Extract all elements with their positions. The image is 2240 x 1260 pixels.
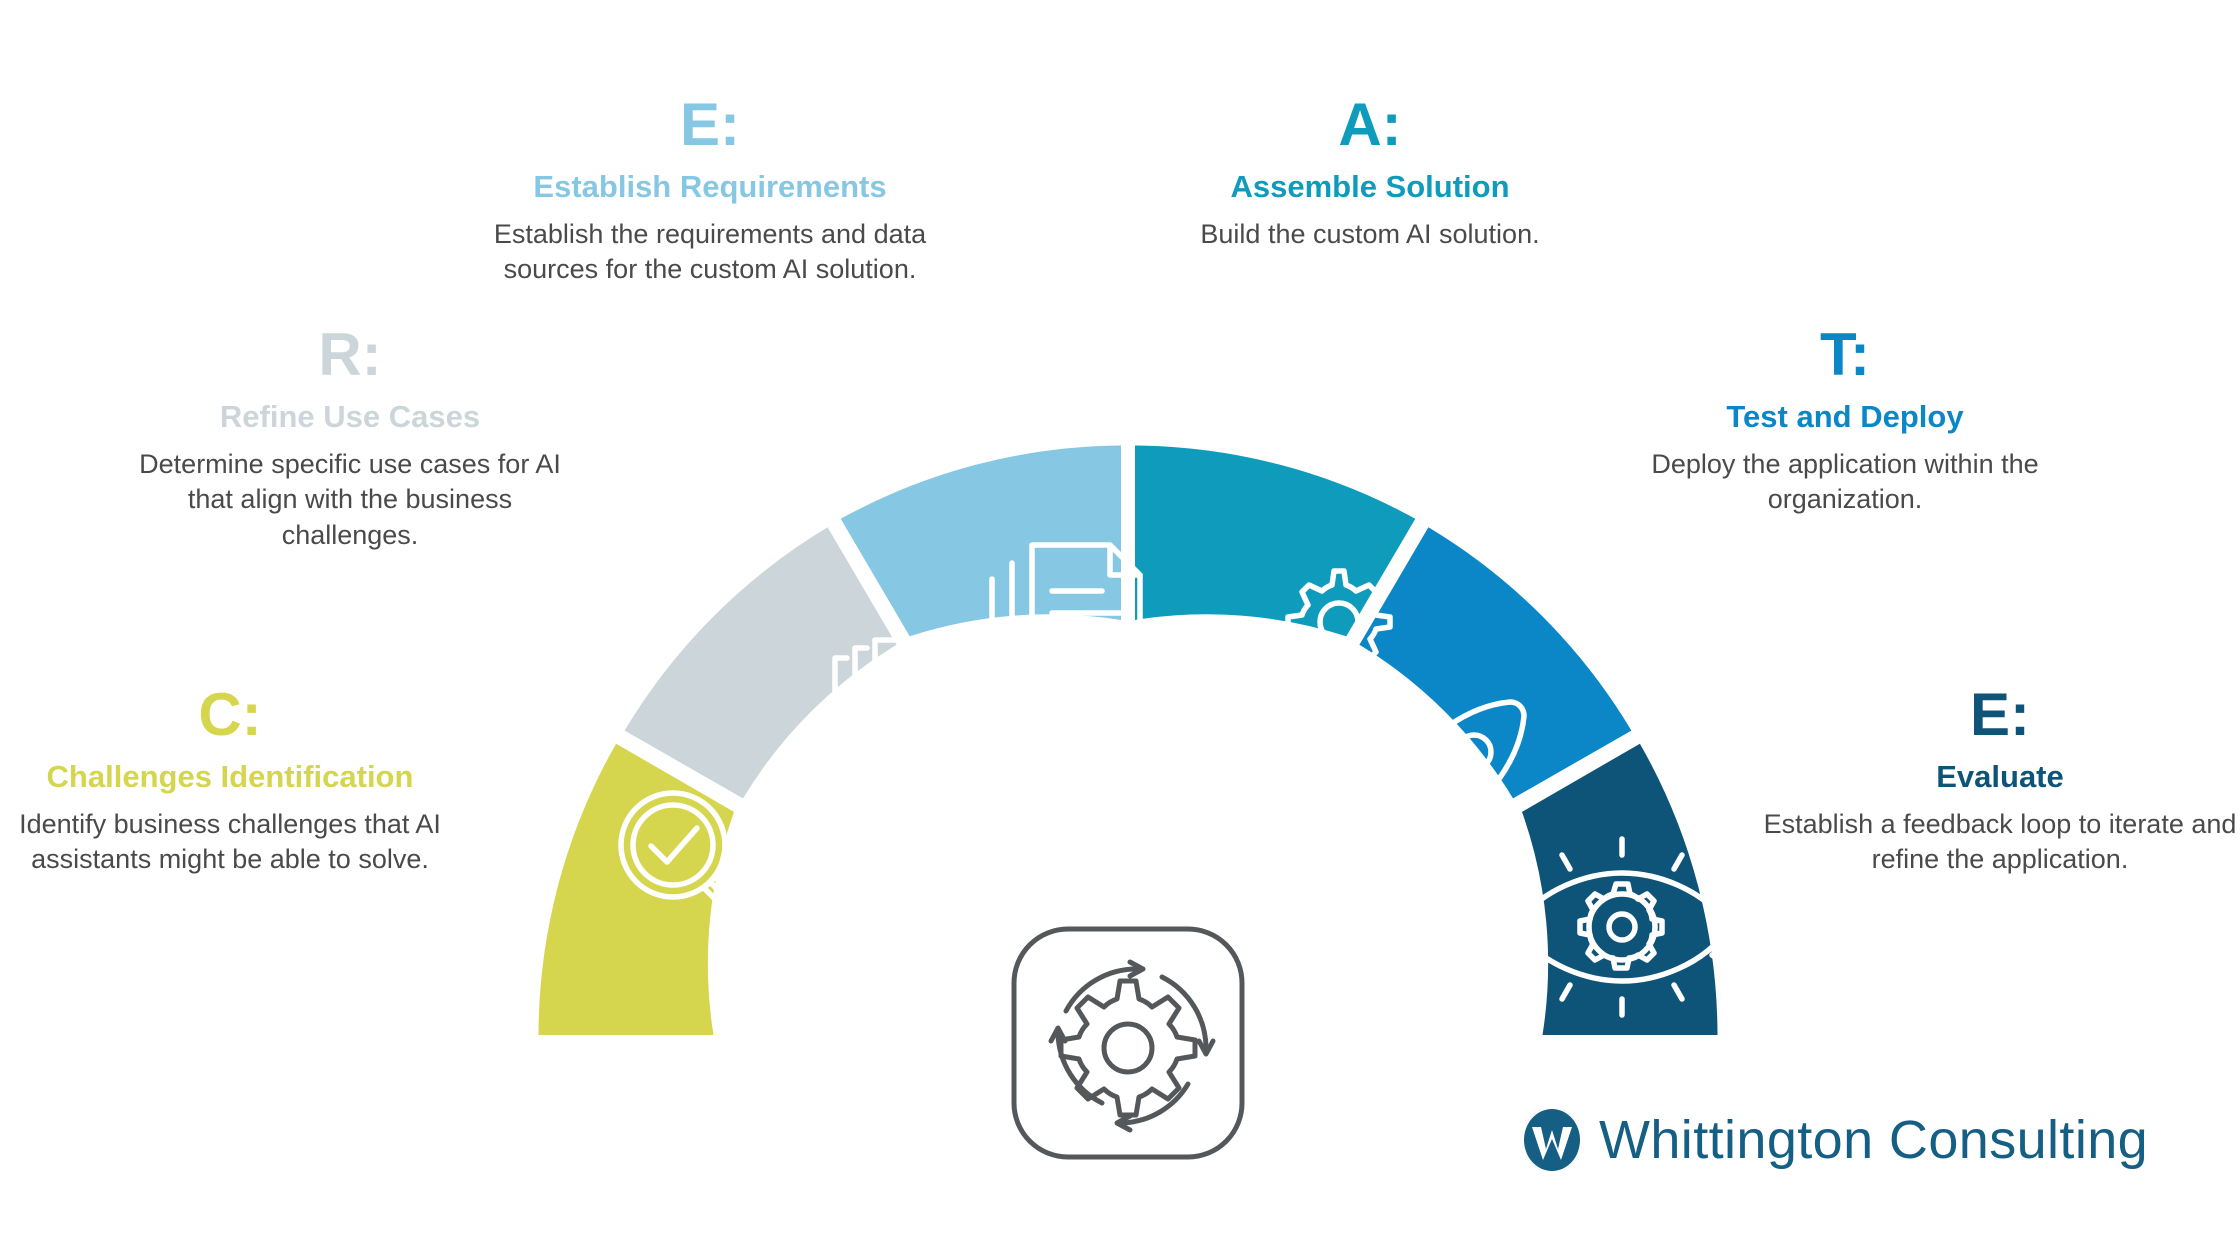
step-letter: C: <box>0 685 480 745</box>
step-letter: T: <box>1625 325 2065 385</box>
step-description: Deploy the application within the organi… <box>1625 447 2065 518</box>
step-block-establish-requirements: E: Establish Requirements Establish the … <box>470 95 950 288</box>
brand-name: Whittington Consulting <box>1599 1113 2148 1167</box>
step-title: Assemble Solution <box>1150 169 1590 205</box>
step-title: Test and Deploy <box>1625 399 2065 435</box>
step-title: Evaluate <box>1760 759 2240 795</box>
step-title: Establish Requirements <box>470 169 950 205</box>
step-block-test-deploy: T: Test and Deploy Deploy the applicatio… <box>1625 325 2065 518</box>
step-title: Challenges Identification <box>0 759 480 795</box>
step-description: Establish a feedback loop to iterate and… <box>1760 807 2240 878</box>
w-circle-logo-mark <box>1523 1108 1581 1172</box>
brand-logo: Whittington Consulting <box>1523 1108 2148 1172</box>
step-block-assemble: A: Assemble Solution Build the custom AI… <box>1150 95 1590 252</box>
segment-establish-requirements[interactable] <box>841 446 1121 637</box>
step-block-refine: R: Refine Use Cases Determine specific u… <box>130 325 570 554</box>
step-description: Establish the requirements and data sour… <box>470 217 950 288</box>
infographic-canvas: E: Establish Requirements Establish the … <box>0 0 2240 1260</box>
gear-cycle-icon <box>1010 925 1246 1161</box>
step-description: Determine specific use cases for AI that… <box>130 447 570 554</box>
documents-check-icon <box>835 640 973 786</box>
step-letter: R: <box>130 325 570 385</box>
step-block-evaluate: E: Evaluate Establish a feedback loop to… <box>1760 685 2240 878</box>
step-description: Identify business challenges that AI ass… <box>0 807 480 878</box>
step-title: Refine Use Cases <box>130 399 570 435</box>
step-letter: E: <box>1760 685 2240 745</box>
step-letter: E: <box>470 95 950 155</box>
step-letter: A: <box>1150 95 1590 155</box>
step-description: Build the custom AI solution. <box>1150 217 1590 253</box>
segment-test-deploy[interactable] <box>1359 527 1631 798</box>
step-block-challenges: C: Challenges Identification Identify bu… <box>0 685 480 878</box>
